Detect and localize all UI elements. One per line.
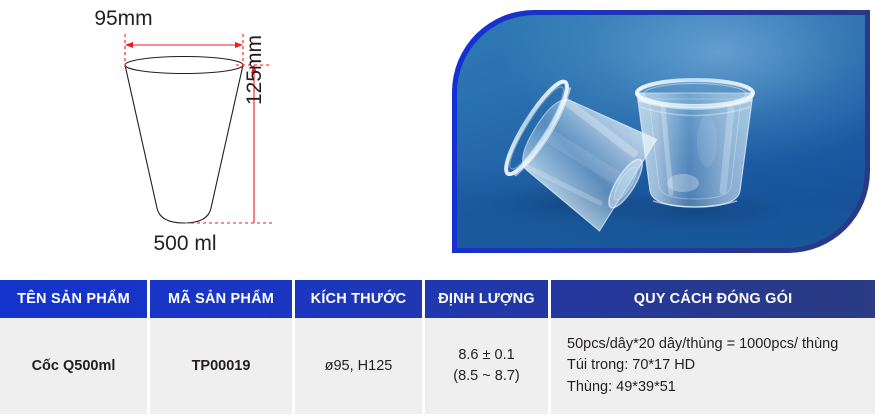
table-data-row: Cốc Q500ml TP00019 ø95, H125 8.6 ± 0.1 (…	[0, 318, 875, 414]
cell-product-name: Cốc Q500ml	[0, 318, 147, 414]
cell-weight-range: (8.5 ~ 8.7)	[453, 366, 520, 387]
cell-weight: 8.6 ± 0.1 (8.5 ~ 8.7)	[425, 318, 548, 414]
cell-weight-main: 8.6 ± 0.1	[458, 345, 514, 366]
table-header-packing: QUY CÁCH ĐÓNG GÓI	[551, 280, 875, 318]
technical-drawing-panel: 95mm 125mm 500 ml	[0, 0, 440, 262]
top-illustration-area: 95mm 125mm 500 ml	[0, 0, 875, 262]
specification-table: TÊN SẢN PHẨM MÃ SẢN PHẨM KÍCH THƯỚC ĐỊNH…	[0, 280, 875, 418]
cell-product-code: TP00019	[150, 318, 292, 414]
cell-packing: 50pcs/dây*20 dây/thùng = 1000pcs/ thùng …	[551, 318, 875, 414]
cell-size: ø95, H125	[295, 318, 422, 414]
width-dimension	[125, 34, 243, 70]
table-header-product-code: MÃ SẢN PHẨM	[150, 280, 292, 318]
table-header-weight: ĐỊNH LƯỢNG	[425, 280, 548, 318]
volume-label: 500 ml	[60, 232, 310, 256]
height-dimension-label: 125mm	[243, 35, 267, 105]
product-photo-panel	[452, 10, 870, 253]
table-header-row: TÊN SẢN PHẨM MÃ SẢN PHẨM KÍCH THƯỚC ĐỊNH…	[0, 280, 875, 318]
cell-packing-line-2: Túi trong: 70*17 HD	[567, 355, 695, 376]
product-photo-image	[457, 15, 865, 248]
cup-outline-shape	[125, 57, 243, 224]
table-header-product-name: TÊN SẢN PHẨM	[0, 280, 147, 318]
cup-dimension-drawing	[0, 0, 440, 262]
width-dimension-label: 95mm	[0, 7, 247, 31]
plastic-cups-illustration	[457, 15, 865, 248]
table-header-size: KÍCH THƯỚC	[295, 280, 422, 318]
cell-packing-line-3: Thùng: 49*39*51	[567, 377, 676, 398]
cell-packing-line-1: 50pcs/dây*20 dây/thùng = 1000pcs/ thùng	[567, 334, 838, 355]
